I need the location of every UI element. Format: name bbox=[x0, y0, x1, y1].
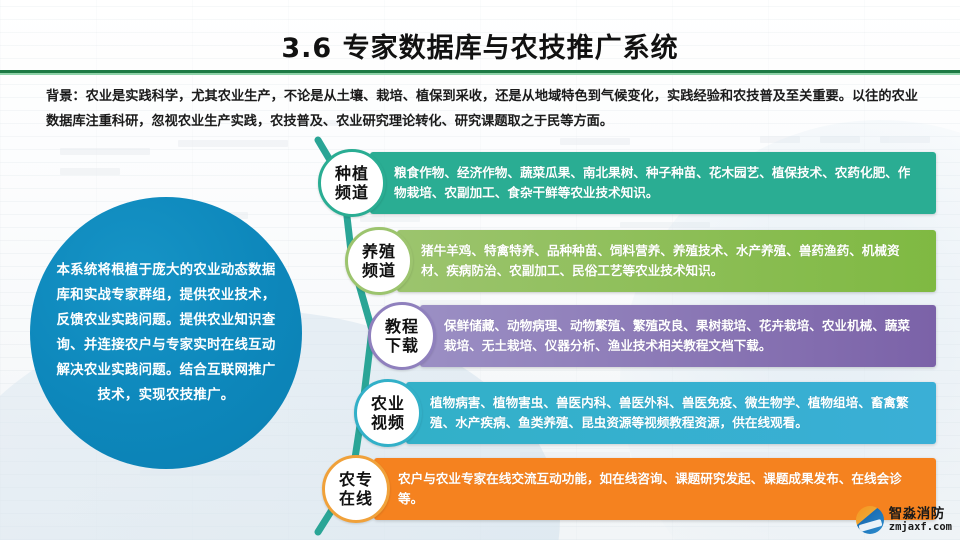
channel-description: 猪牛羊鸡、特禽特养、品种种苗、饲料营养、养殖技术、水产养殖、兽药渔药、机械资材、… bbox=[421, 241, 922, 281]
channel-description: 粮食作物、经济作物、蔬菜瓜果、南北果树、种子种苗、花木园艺、植保技术、农药化肥、… bbox=[394, 163, 922, 203]
channel-label-line2: 在线 bbox=[339, 489, 373, 508]
channel-label-line1: 教程 bbox=[385, 317, 419, 336]
channel-label-line2: 视频 bbox=[371, 413, 405, 432]
watermark-text: 智淼消防 zmjaxf.com bbox=[889, 507, 952, 532]
channel-bar: 农户与农业专家在线交流互动功能，如在线咨询、课题研究发起、课题成果发布、在线会诊… bbox=[374, 458, 936, 520]
brand-logo-icon bbox=[856, 506, 884, 534]
channel-label-line2: 下载 bbox=[385, 336, 419, 355]
channel-description: 植物病害、植物害虫、兽医内科、兽医外科、兽医免疫、微生物学、植物组培、畜禽繁殖、… bbox=[430, 393, 922, 433]
channel-description: 农户与农业专家在线交流互动功能，如在线咨询、课题研究发起、课题成果发布、在线会诊… bbox=[398, 469, 922, 509]
channel-row: 粮食作物、经济作物、蔬菜瓜果、南北果树、种子种苗、花木园艺、植保技术、农药化肥、… bbox=[318, 152, 938, 214]
summary-circle-text: 本系统将根植于庞大的农业动态数据库和实战专家群组，提供农业技术，反馈农业实践问题… bbox=[52, 258, 280, 408]
channel-bubble[interactable]: 农专 在线 bbox=[322, 455, 390, 523]
channel-bubble[interactable]: 教程 下载 bbox=[368, 302, 436, 370]
watermark-name: 智淼消防 bbox=[889, 507, 952, 521]
channel-bubble[interactable]: 养殖 频道 bbox=[345, 227, 413, 295]
channel-label-line2: 频道 bbox=[335, 183, 369, 202]
slide-root: 3.6 专家数据库与农技推广系统 背景：农业是实践科学，尤其农业生产，不论是从土… bbox=[0, 0, 960, 540]
channel-label-line2: 频道 bbox=[362, 261, 396, 280]
watermark: 智淼消防 zmjaxf.com bbox=[856, 506, 952, 534]
page-title: 3.6 专家数据库与农技推广系统 bbox=[0, 26, 960, 65]
channel-label-line1: 农专 bbox=[339, 470, 373, 489]
channel-row: 保鲜储藏、动物病理、动物繁殖、繁殖改良、果树栽培、花卉栽培、农业机械、蔬菜栽培、… bbox=[368, 305, 948, 367]
channel-bubble[interactable]: 农业 视频 bbox=[354, 379, 422, 447]
title-divider-light bbox=[0, 73, 960, 75]
channel-bar: 猪牛羊鸡、特禽特养、品种种苗、饲料营养、养殖技术、水产养殖、兽药渔药、机械资材、… bbox=[397, 230, 936, 292]
channel-row: 猪牛羊鸡、特禽特养、品种种苗、饲料营养、养殖技术、水产养殖、兽药渔药、机械资材、… bbox=[345, 230, 945, 292]
channel-label-line1: 养殖 bbox=[362, 242, 396, 261]
channel-bar: 保鲜储藏、动物病理、动物繁殖、繁殖改良、果树栽培、花卉栽培、农业机械、蔬菜栽培、… bbox=[420, 305, 936, 367]
channel-bar: 植物病害、植物害虫、兽医内科、兽医外科、兽医免疫、微生物学、植物组培、畜禽繁殖、… bbox=[406, 382, 936, 444]
watermark-site: zmjaxf.com bbox=[889, 522, 952, 533]
channel-row: 植物病害、植物害虫、兽医内科、兽医外科、兽医免疫、微生物学、植物组培、畜禽繁殖、… bbox=[354, 382, 954, 444]
channel-label-line1: 种植 bbox=[335, 164, 369, 183]
channel-bar: 粮食作物、经济作物、蔬菜瓜果、南北果树、种子种苗、花木园艺、植保技术、农药化肥、… bbox=[370, 152, 936, 214]
channel-bubble[interactable]: 种植 频道 bbox=[318, 149, 386, 217]
summary-circle: 本系统将根植于庞大的农业动态数据库和实战专家群组，提供农业技术，反馈农业实践问题… bbox=[30, 197, 302, 469]
channel-description: 保鲜储藏、动物病理、动物繁殖、繁殖改良、果树栽培、花卉栽培、农业机械、蔬菜栽培、… bbox=[444, 316, 922, 356]
channel-label-line1: 农业 bbox=[371, 394, 405, 413]
intro-paragraph: 背景：农业是实践科学，尤其农业生产，不论是从土壤、栽培、植保到采收，还是从地域特… bbox=[46, 84, 918, 134]
